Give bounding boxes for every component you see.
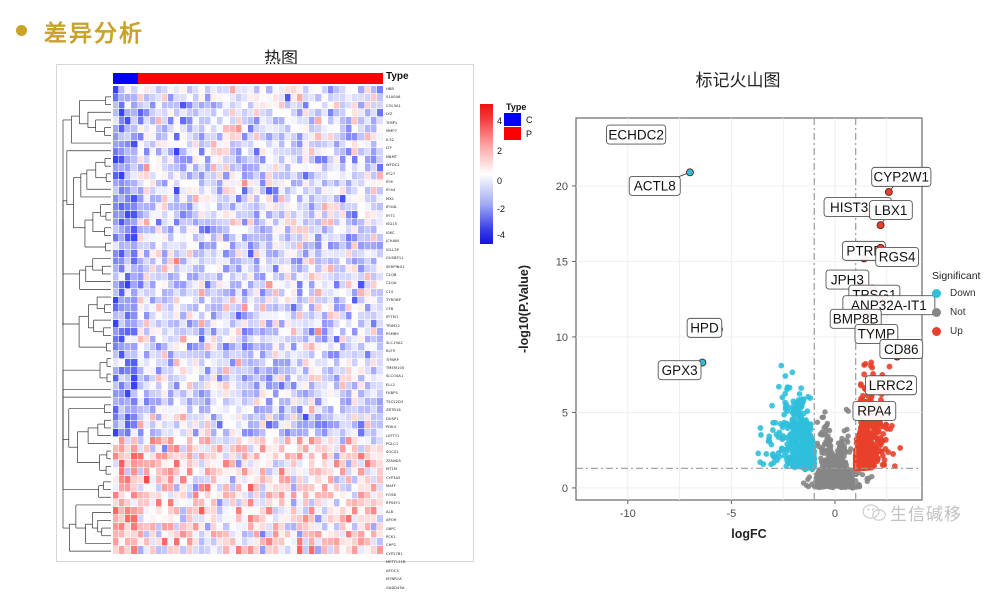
data-point — [889, 423, 895, 429]
heatmap-cell — [377, 133, 383, 141]
heatmap-cell — [377, 273, 383, 281]
data-point — [830, 485, 835, 490]
heatmap-cell — [377, 102, 383, 110]
data-point — [839, 440, 844, 445]
gene-label: PDK4 — [386, 423, 446, 431]
heatmap-cell — [377, 117, 383, 125]
heatmap-cell — [377, 507, 383, 515]
gene-label: ZBTB16 — [386, 406, 446, 414]
data-point — [824, 441, 829, 446]
gene-label: TRIM22 — [386, 322, 446, 330]
color-scale-bar — [480, 104, 493, 244]
data-point — [802, 430, 808, 436]
heatmap-cell — [377, 258, 383, 266]
gene-label: IFI6 — [386, 178, 446, 186]
annotation-cell — [376, 73, 382, 84]
data-point — [825, 448, 830, 453]
gene-label: ZFAND5 — [386, 457, 446, 465]
heatmap-cell — [377, 86, 383, 94]
gene-label: IFI44L — [386, 203, 446, 211]
gene-label: LYZ — [386, 110, 446, 118]
gene-label: MT1M — [386, 465, 446, 473]
gene-label: CYP27B1 — [386, 550, 446, 558]
gene-label: KLF9 — [386, 347, 446, 355]
heatmap-cell — [377, 531, 383, 539]
data-point — [890, 451, 896, 457]
data-point — [818, 455, 823, 460]
data-point — [819, 431, 824, 436]
heatmap-cell — [377, 211, 383, 219]
data-point — [816, 444, 821, 449]
gene-label: SOCS2 — [386, 448, 446, 456]
data-point — [831, 474, 836, 479]
volcano-panel: 标记火山图 ECHDC2ACTL8HPDGPX3CYP2W1HIST3H3LBX… — [508, 40, 1000, 555]
heatmap-cell — [377, 250, 383, 258]
data-point — [815, 420, 820, 425]
data-point — [769, 403, 775, 409]
scale-tick-label: -2 — [497, 204, 505, 214]
data-point — [883, 422, 889, 428]
gene-label: SERPING1 — [386, 263, 446, 271]
gene-label: PCK1 — [386, 533, 446, 541]
gene-label: TIMP1 — [386, 119, 446, 127]
heatmap-cell — [377, 312, 383, 320]
gene-label: APOH — [386, 516, 446, 524]
data-point — [869, 474, 874, 479]
data-point — [844, 437, 849, 442]
data-point — [830, 456, 835, 461]
data-point — [872, 426, 878, 432]
heatmap-cell — [377, 468, 383, 476]
gene-label: TSC22D3 — [386, 398, 446, 406]
heatmap-cell — [377, 523, 383, 531]
data-point — [835, 454, 840, 459]
gene-label: WFDC2 — [386, 161, 446, 169]
data-point — [873, 446, 879, 452]
gene-label: FKBP5 — [386, 389, 446, 397]
data-point — [860, 472, 865, 477]
data-point — [864, 476, 869, 481]
data-point — [885, 449, 891, 455]
data-point — [862, 450, 868, 456]
heatmap-frame: Type HBBS100A8COL3A1LYZTIMP1MMP7IL32LTFN… — [56, 64, 474, 562]
data-point — [781, 412, 787, 418]
annotation-label: Type — [386, 71, 409, 82]
data-point — [787, 385, 793, 391]
data-point — [860, 445, 866, 451]
heatmap-cell — [377, 156, 383, 164]
gene-label: NNMT — [386, 153, 446, 161]
data-point — [831, 480, 836, 485]
data-point — [758, 432, 764, 438]
data-point — [878, 438, 884, 444]
gene-label: S100A8 — [386, 93, 446, 101]
gene-label: JCHAIN — [386, 237, 446, 245]
bullet-dot-icon — [16, 25, 27, 36]
heatmap-cell — [377, 297, 383, 305]
heatmap-cell — [377, 219, 383, 227]
data-point — [821, 425, 826, 430]
heatmap-cell — [377, 187, 383, 195]
heatmap-cell — [377, 437, 383, 445]
gene-label: MAFF — [386, 482, 446, 490]
gene-label: HBB — [386, 85, 446, 93]
heatmap-cell — [377, 180, 383, 188]
data-point — [789, 369, 795, 375]
heatmap-cell — [377, 328, 383, 336]
gene-label: PGLC1 — [386, 440, 446, 448]
heatmap-cell — [377, 546, 383, 554]
gene-label: SLCO4A1 — [386, 372, 446, 380]
heatmap-cell — [377, 172, 383, 180]
row-dendrogram — [61, 93, 111, 555]
gene-label: LTF — [386, 144, 446, 152]
data-point — [757, 459, 763, 465]
heatmap-cell — [377, 538, 383, 546]
heatmap-cell — [377, 351, 383, 359]
gene-label: IFI27 — [386, 170, 446, 178]
heatmap-cell — [377, 125, 383, 133]
gene-label: METTL21B — [386, 558, 446, 566]
data-point — [850, 470, 855, 475]
heatmap-cell — [377, 445, 383, 453]
data-point — [766, 436, 772, 442]
data-point — [778, 421, 784, 427]
gene-label: G6PC — [386, 525, 446, 533]
heatmap-cell — [377, 109, 383, 117]
data-point — [783, 404, 789, 410]
data-point — [843, 471, 848, 476]
heatmap-panel: 热图 Type HBBS100A8COL3A1LYZTIMP1MMP7IL32L… — [56, 40, 506, 560]
data-point — [887, 364, 893, 370]
data-point — [793, 417, 799, 423]
heatmap-cell — [377, 429, 383, 437]
data-point — [848, 446, 853, 451]
gene-label: IL32 — [386, 136, 446, 144]
heatmap-cell — [377, 390, 383, 398]
heatmap-cell — [377, 421, 383, 429]
heatmap-cell — [377, 203, 383, 211]
gene-label: DUSP1 — [386, 415, 446, 423]
gene-label: ISG15 — [386, 220, 446, 228]
data-point — [770, 420, 776, 426]
heatmap-cell — [377, 484, 383, 492]
data-point — [857, 437, 863, 443]
data-point — [846, 409, 851, 414]
heatmap-cell — [377, 515, 383, 523]
gene-label: LEFTY1 — [386, 432, 446, 440]
data-point — [897, 445, 903, 451]
data-point — [824, 483, 829, 488]
gene-label: RPS4Y1 — [386, 499, 446, 507]
data-point — [825, 421, 830, 426]
data-point — [782, 391, 788, 397]
gene-label: GUSBP11 — [386, 254, 446, 262]
scale-tick-label: 2 — [497, 146, 502, 156]
gene-label: COL3A1 — [386, 102, 446, 110]
gene-label: PSMB9 — [386, 330, 446, 338]
scale-tick-label: 4 — [497, 116, 502, 126]
data-point — [868, 360, 874, 366]
heatmap-cell — [377, 460, 383, 468]
data-point — [816, 470, 821, 475]
heatmap-cell — [377, 320, 383, 328]
heatmap-cell — [377, 148, 383, 156]
heatmap-grid — [113, 86, 383, 554]
data-point — [822, 472, 827, 477]
heatmap-cell — [377, 453, 383, 461]
heatmap-cell — [377, 141, 383, 149]
heatmap-cell — [377, 94, 383, 102]
heatmap-cell — [377, 398, 383, 406]
heatmap-cell — [377, 367, 383, 375]
column-annotation-bar — [113, 73, 383, 84]
heatmap-cell — [377, 406, 383, 414]
data-point — [841, 482, 846, 487]
data-point — [789, 442, 795, 448]
data-point — [871, 460, 877, 466]
gene-label: MX1 — [386, 195, 446, 203]
data-point — [858, 424, 864, 430]
heatmap-cell — [377, 414, 383, 422]
data-point — [782, 373, 788, 379]
heatmap-cell — [377, 375, 383, 383]
scale-tick-label: -4 — [497, 230, 505, 240]
data-point — [797, 391, 803, 397]
gene-label: IFI44 — [386, 186, 446, 194]
gene-label: FOSB — [386, 491, 446, 499]
data-point — [801, 480, 806, 485]
heatmap-cell — [377, 242, 383, 250]
data-point — [763, 451, 769, 457]
gene-label: C1QA — [386, 279, 446, 287]
gene-label: TMEM100 — [386, 364, 446, 372]
heatmap-cell — [377, 343, 383, 351]
gene-label: TIPARP — [386, 356, 446, 364]
heatmap-cell — [377, 195, 383, 203]
heatmap-cell — [377, 382, 383, 390]
heatmap-cell — [377, 226, 383, 234]
data-point — [805, 477, 810, 482]
data-point — [778, 363, 784, 369]
data-point — [825, 433, 830, 438]
data-point — [859, 459, 865, 465]
heatmap-color-scale: 420-2-4 — [480, 104, 496, 244]
gene-label: CFB — [386, 305, 446, 313]
data-point — [822, 409, 827, 414]
data-point — [863, 361, 869, 367]
gene-label: MMP7 — [386, 127, 446, 135]
gene-label: IGLL3P — [386, 246, 446, 254]
volcano-scatter-plot: ECHDC2ACTL8HPDGPX3CYP2W1HIST3H3LBX1PTRFR… — [508, 40, 1000, 555]
heatmap-cell — [377, 304, 383, 312]
heatmap-cell — [377, 164, 383, 172]
gene-label: GADD45A — [386, 584, 446, 592]
data-point — [776, 384, 782, 390]
heatmap-cell — [377, 359, 383, 367]
gene-label: IFIT1 — [386, 212, 446, 220]
data-point — [844, 427, 849, 432]
gene-label: C1QB — [386, 271, 446, 279]
data-point — [819, 415, 824, 420]
gene-label: CHP2 — [386, 541, 446, 549]
gene-label: MTNR1A — [386, 575, 446, 583]
data-point — [828, 461, 833, 466]
heatmap-cell — [377, 265, 383, 273]
gene-label: SLC19A2 — [386, 339, 446, 347]
heatmap-cell — [377, 492, 383, 500]
heatmap-cell — [377, 234, 383, 242]
heatmap-cell — [377, 499, 383, 507]
data-point — [867, 422, 873, 428]
gene-label: TYROBP — [386, 296, 446, 304]
data-point — [882, 457, 888, 463]
gene-label: CYP3A5 — [386, 474, 446, 482]
data-point — [869, 433, 875, 439]
heatmap-cell — [377, 289, 383, 297]
gene-label: APOC3 — [386, 567, 446, 575]
gene-label: C1S — [386, 288, 446, 296]
gene-label-list: HBBS100A8COL3A1LYZTIMP1MMP7IL32LTFNNMTWF… — [386, 85, 446, 555]
heatmap-cell — [377, 281, 383, 289]
gene-label: ELL2 — [386, 381, 446, 389]
gene-label: ALB — [386, 508, 446, 516]
scale-tick-label: 0 — [497, 176, 502, 186]
heatmap-cell — [377, 476, 383, 484]
gene-label: IFITM1 — [386, 313, 446, 321]
data-point — [804, 408, 810, 414]
heatmap-cell — [377, 336, 383, 344]
data-point — [827, 428, 832, 433]
data-point — [823, 457, 828, 462]
data-point — [856, 482, 861, 487]
data-point — [790, 423, 796, 429]
gene-label: IGKC — [386, 229, 446, 237]
